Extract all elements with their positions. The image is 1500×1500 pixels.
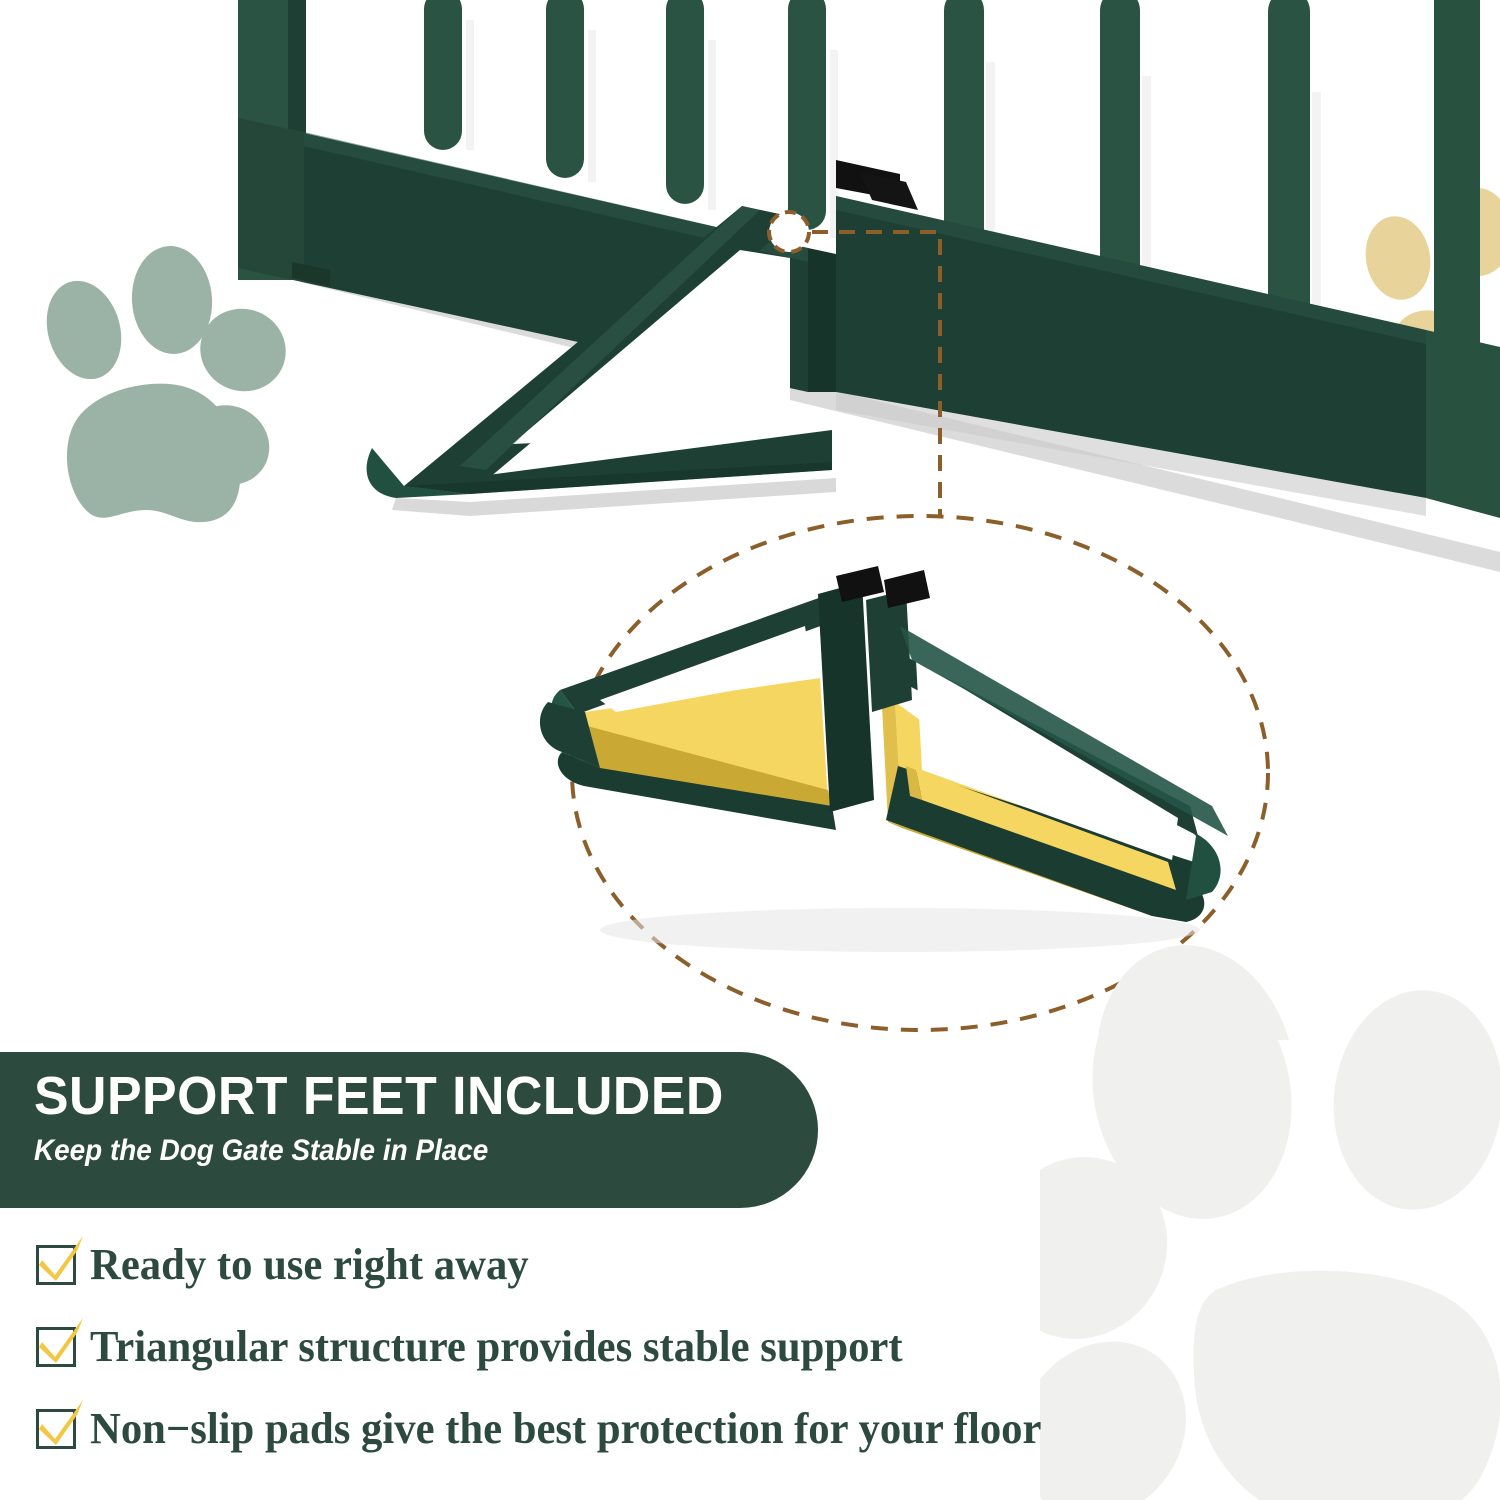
- list-item: Triangular structure provides stable sup…: [36, 1318, 1456, 1376]
- product-feature-image: SUPPORT FEET INCLUDED Keep the Dog Gate …: [0, 0, 1500, 1500]
- page-title: SUPPORT FEET INCLUDED: [34, 1068, 748, 1124]
- feature-list: Ready to use right away Triangular struc…: [36, 1236, 1456, 1482]
- paw-print-sage-left: [36, 243, 299, 522]
- hero-illustration: [0, 0, 1500, 1040]
- checkbox-checked-icon: [36, 1245, 76, 1285]
- list-item-label: Triangular structure provides stable sup…: [90, 1325, 903, 1369]
- list-item: Non−slip pads give the best protection f…: [36, 1400, 1456, 1458]
- dog-gate: [238, 0, 1500, 572]
- list-item: Ready to use right away: [36, 1236, 1456, 1294]
- circle-marker-icon: [769, 212, 809, 252]
- headline-badge: SUPPORT FEET INCLUDED Keep the Dog Gate …: [0, 1052, 818, 1208]
- page-subtitle: Keep the Dog Gate Stable in Place: [34, 1136, 726, 1166]
- checkbox-checked-icon: [36, 1327, 76, 1367]
- checkbox-checked-icon: [36, 1409, 76, 1449]
- list-item-label: Non−slip pads give the best protection f…: [90, 1407, 1041, 1451]
- support-foot-detail: [540, 566, 1228, 952]
- list-item-label: Ready to use right away: [90, 1243, 529, 1287]
